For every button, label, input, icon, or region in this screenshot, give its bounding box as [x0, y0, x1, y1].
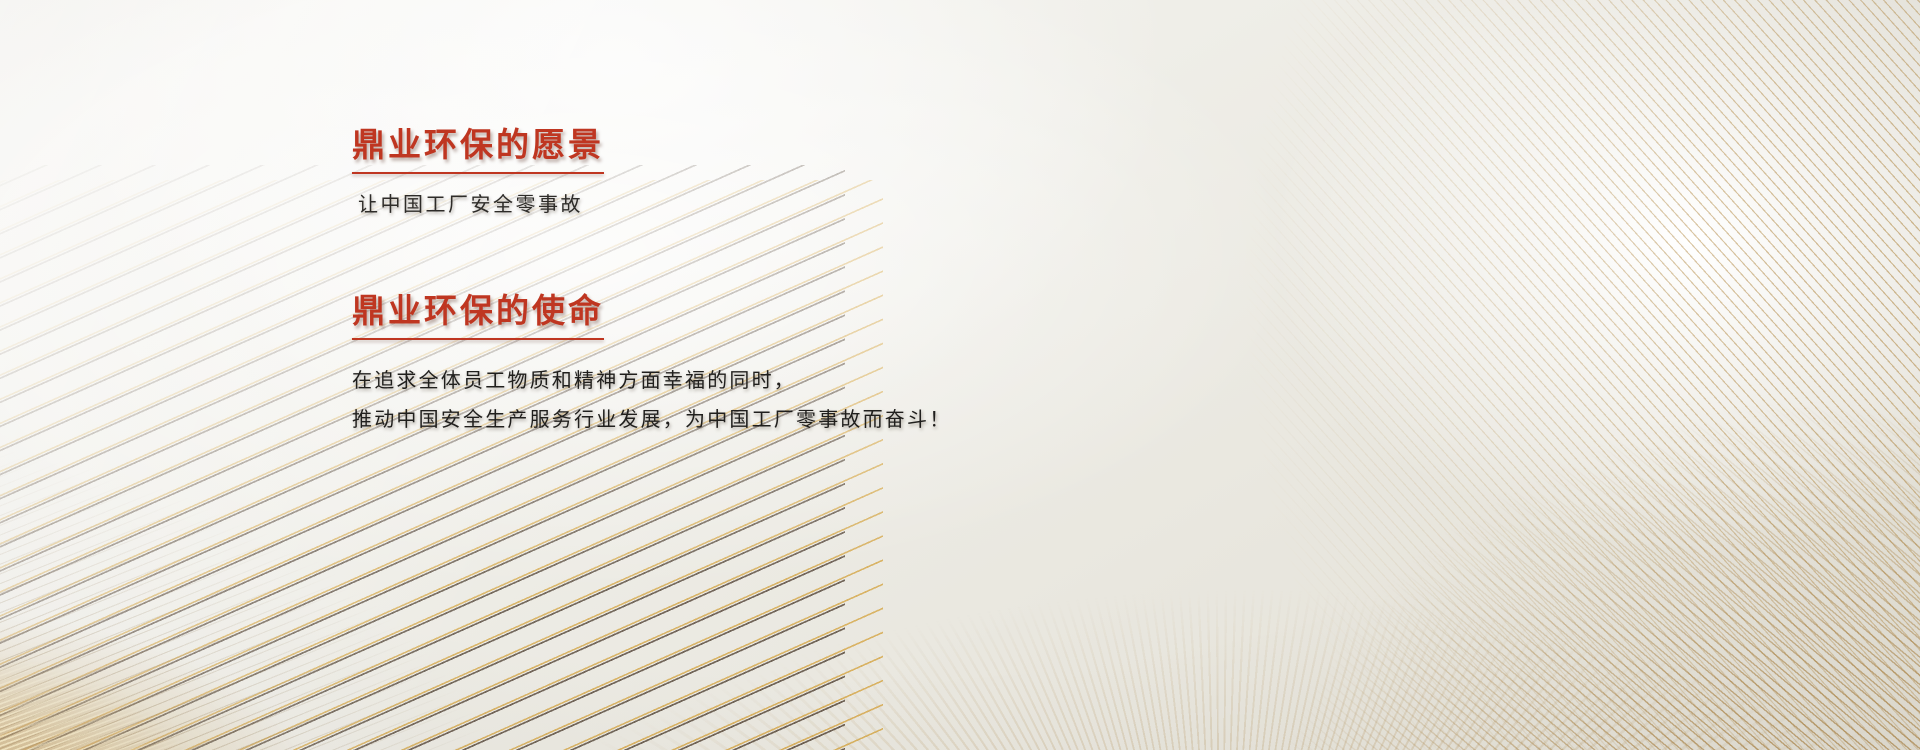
- mission-line: 在追求全体员工物质和精神方面幸福的同时，: [352, 362, 1452, 402]
- vision-block: 鼎业环保的愿景 让中国工厂安全零事故: [352, 126, 1452, 220]
- vision-heading-underline: [352, 172, 604, 174]
- vision-subtitle: 让中国工厂安全零事故: [358, 190, 1452, 220]
- mission-block: 鼎业环保的使命 在追求全体员工物质和精神方面幸福的同时， 推动中国安全生产服务行…: [352, 292, 1452, 441]
- fine-diagonal-stripes-lower-left: [0, 390, 730, 750]
- gold-highlight-bottom-left-corner: [0, 465, 653, 750]
- mission-paragraph: 在追求全体员工物质和精神方面幸福的同时， 推动中国安全生产服务行业发展，为中国工…: [352, 362, 1452, 441]
- vision-heading: 鼎业环保的愿景: [352, 126, 604, 174]
- mission-line: 推动中国安全生产服务行业发展，为中国工厂零事故而奋斗！: [352, 401, 1452, 441]
- vision-mission-banner: 鼎业环保的愿景 让中国工厂安全零事故 鼎业环保的使命 在追求全体员工物质和精神方…: [0, 0, 1920, 750]
- mission-heading-underline: [352, 338, 604, 340]
- banner-content: 鼎业环保的愿景 让中国工厂安全零事故 鼎业环保的使命 在追求全体员工物质和精神方…: [352, 126, 1452, 441]
- mission-heading: 鼎业环保的使命: [352, 292, 604, 340]
- gold-glow-bottom-left: [0, 413, 768, 750]
